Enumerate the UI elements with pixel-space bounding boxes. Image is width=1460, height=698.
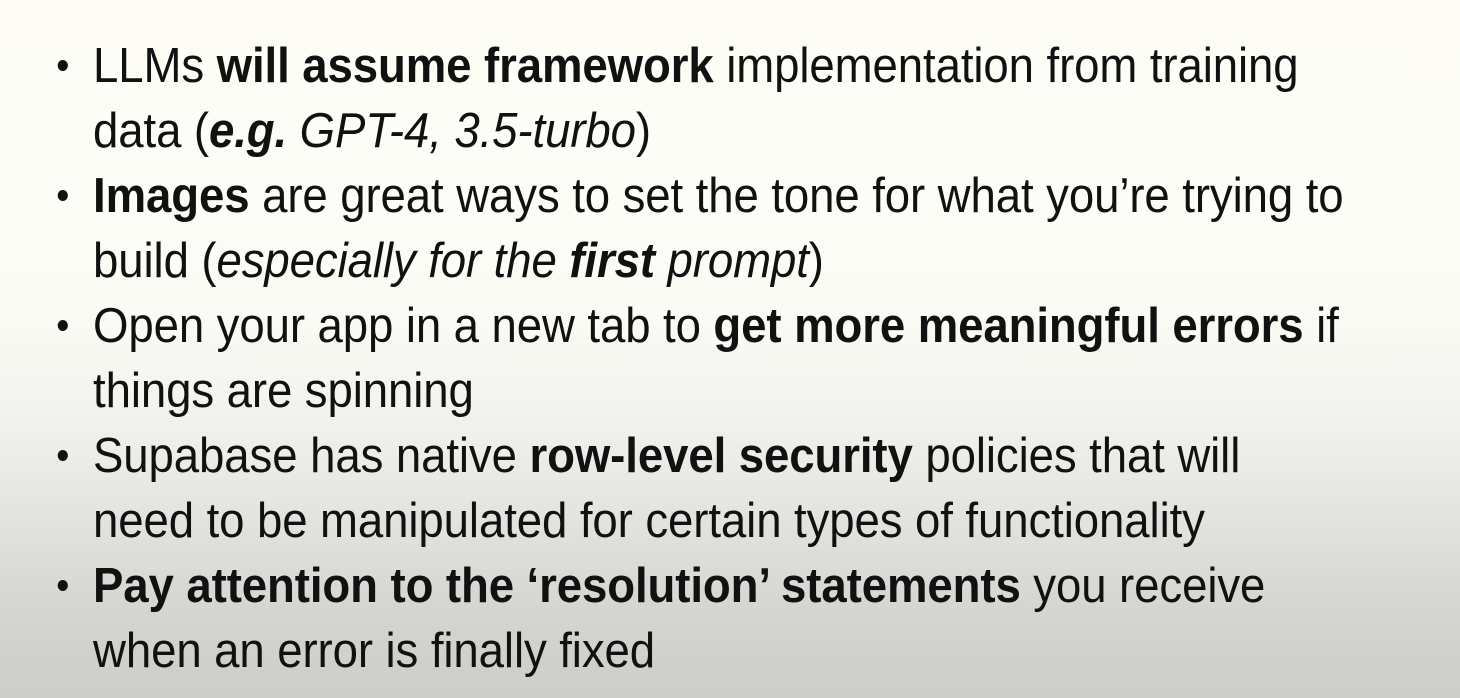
bullet-point-icon [58,580,68,591]
bullet-supabase-row-level-security: Supabase has native row-level security p… [0,424,1358,554]
presentation-slide: LLMs will assume framework implementatio… [0,0,1460,698]
bullet-point-icon [58,190,68,201]
bullet-list: LLMs will assume framework implementatio… [0,34,1460,684]
bullet-resolution-statements: Pay attention to the ‘resolution’ statem… [0,554,1358,684]
bullet-point-icon [58,320,68,331]
bullet-llms-assume-framework: LLMs will assume framework implementatio… [0,34,1358,164]
bullet-text: Images are great ways to set the tone fo… [93,169,1344,288]
bullet-text: Supabase has native row-level security p… [93,429,1240,548]
bullet-text: LLMs will assume framework implementatio… [93,39,1299,158]
bullet-images-set-tone: Images are great ways to set the tone fo… [0,164,1358,294]
bullet-point-icon [58,60,68,71]
bullet-point-icon [58,450,68,461]
bullet-open-app-new-tab: Open your app in a new tab to get more m… [0,294,1358,424]
bullet-text: Open your app in a new tab to get more m… [93,299,1339,418]
bullet-text: Pay attention to the ‘resolution’ statem… [93,559,1265,678]
